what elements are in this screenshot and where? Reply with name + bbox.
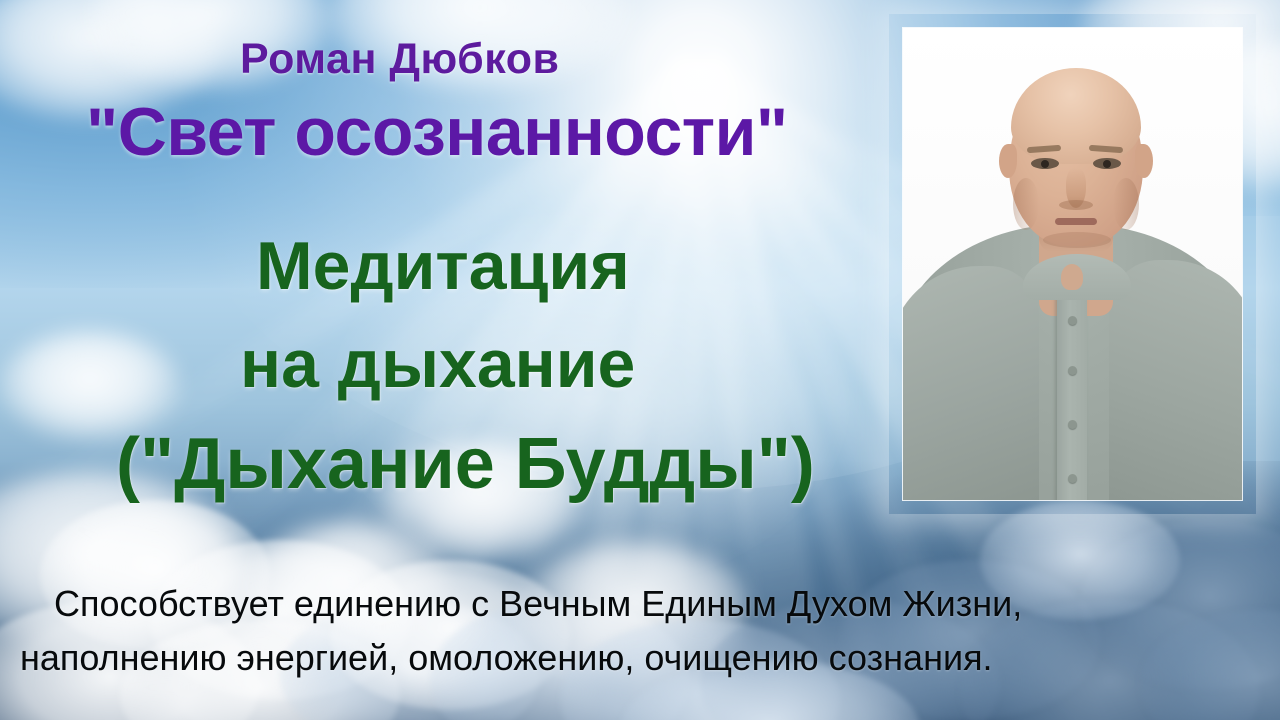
title-line-1: Медитация: [0, 232, 1280, 300]
portrait-shirt-button: [1068, 316, 1077, 325]
author-name: Роман Дюбков: [0, 38, 1280, 81]
portrait-nose-shadow: [1059, 200, 1093, 210]
portrait-cheek-shadow-right: [1113, 178, 1139, 230]
subtitle-line-2: наполнению энергией, омоложению, очищени…: [0, 640, 1280, 676]
portrait-cheek-shadow-left: [1013, 178, 1039, 230]
channel-title: "Свет осознанности": [0, 98, 1280, 166]
title-line-3: ("Дыхание Будды"): [0, 428, 1280, 500]
portrait-mouth: [1055, 218, 1097, 225]
thumbnail-canvas: Роман Дюбков "Свет осознанности" Медитац…: [0, 0, 1280, 720]
subtitle-line-1: Способствует единению с Вечным Единым Ду…: [0, 586, 1280, 622]
title-line-2: на дыхание: [0, 330, 1280, 398]
